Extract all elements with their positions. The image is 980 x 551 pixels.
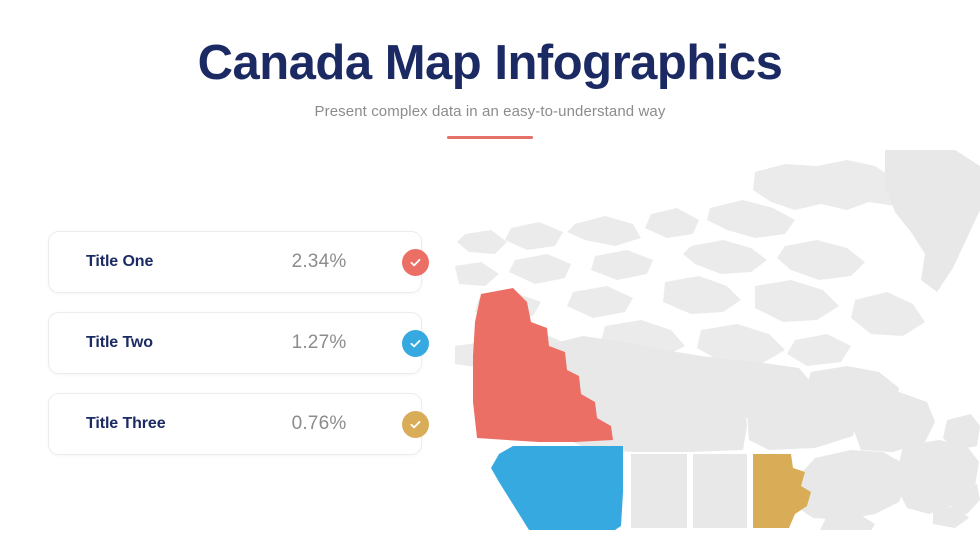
check-icon (402, 249, 429, 276)
page-title: Canada Map Infographics (0, 36, 980, 91)
accent-divider (447, 136, 533, 139)
slide: Canada Map Infographics Present complex … (0, 0, 980, 551)
stat-card-title: Title Three (86, 415, 166, 433)
stat-card-list: Title One 2.34% Title Two 1.27% Title Th… (48, 231, 422, 455)
stat-card-value: 0.76% (271, 413, 367, 435)
stat-card-title: Title One (86, 253, 153, 271)
check-icon (402, 330, 429, 357)
stat-card[interactable]: Title Two 1.27% (48, 312, 422, 374)
check-icon (402, 411, 429, 438)
stat-card[interactable]: Title Three 0.76% (48, 393, 422, 455)
canada-map (455, 150, 980, 530)
header: Canada Map Infographics Present complex … (0, 0, 980, 139)
map-region-manitoba[interactable] (753, 454, 811, 528)
stat-card-value: 1.27% (271, 332, 367, 354)
stat-card[interactable]: Title One 2.34% (48, 231, 422, 293)
stat-card-value: 2.34% (271, 251, 367, 273)
map-region-british-columbia[interactable] (491, 446, 623, 530)
stat-card-title: Title Two (86, 334, 153, 352)
page-subtitle: Present complex data in an easy-to-under… (0, 103, 980, 120)
